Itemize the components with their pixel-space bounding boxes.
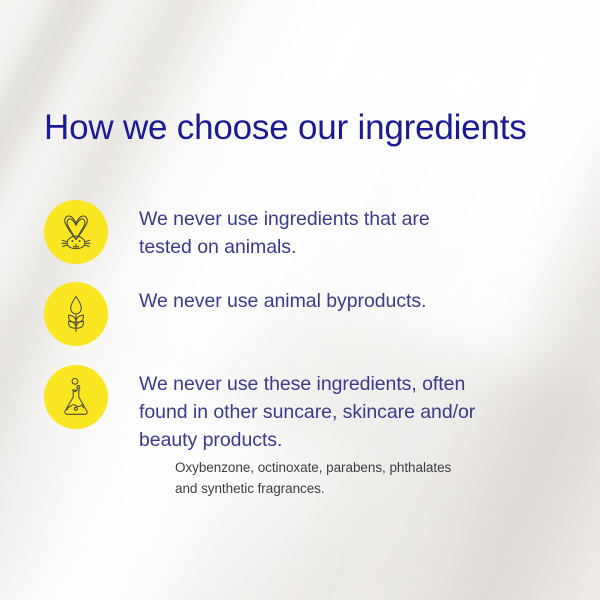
chemistry-flask-icon xyxy=(54,375,98,419)
claim-line: tested on animals. xyxy=(139,233,430,261)
claim-text-chemicals: We never use these ingredients, often fo… xyxy=(139,370,475,454)
claim-text-vegan: We never use animal byproducts. xyxy=(139,287,427,315)
claim-line: beauty products. xyxy=(139,426,475,454)
content-area: How we choose our ingredients xyxy=(0,0,600,600)
badge-cruelty-free xyxy=(44,200,108,264)
page-title: How we choose our ingredients xyxy=(44,108,527,147)
fine-print-line: and synthetic fragrances. xyxy=(175,478,451,499)
badge-chemicals xyxy=(44,365,108,429)
fine-print-line: Oxybenzone, octinoxate, parabens, phthal… xyxy=(175,457,451,478)
badge-vegan xyxy=(44,282,108,346)
claim-text-cruelty-free: We never use ingredients that are tested… xyxy=(139,205,430,261)
claim-line: We never use these ingredients, often xyxy=(139,370,475,398)
claim-line: We never use ingredients that are xyxy=(139,205,430,233)
fine-print-ingredient-list: Oxybenzone, octinoxate, parabens, phthal… xyxy=(175,457,451,499)
claim-row-cruelty-free: We never use ingredients that are tested… xyxy=(44,200,430,264)
claim-row-chemicals: We never use these ingredients, often fo… xyxy=(44,365,475,454)
claim-line: We never use animal byproducts. xyxy=(139,287,427,315)
claim-line: found in other suncare, skincare and/or xyxy=(139,398,475,426)
claim-row-vegan: We never use animal byproducts. xyxy=(44,282,427,346)
plant-leaf-droplet-icon xyxy=(54,292,98,336)
bunny-heart-ears-icon xyxy=(54,210,98,254)
